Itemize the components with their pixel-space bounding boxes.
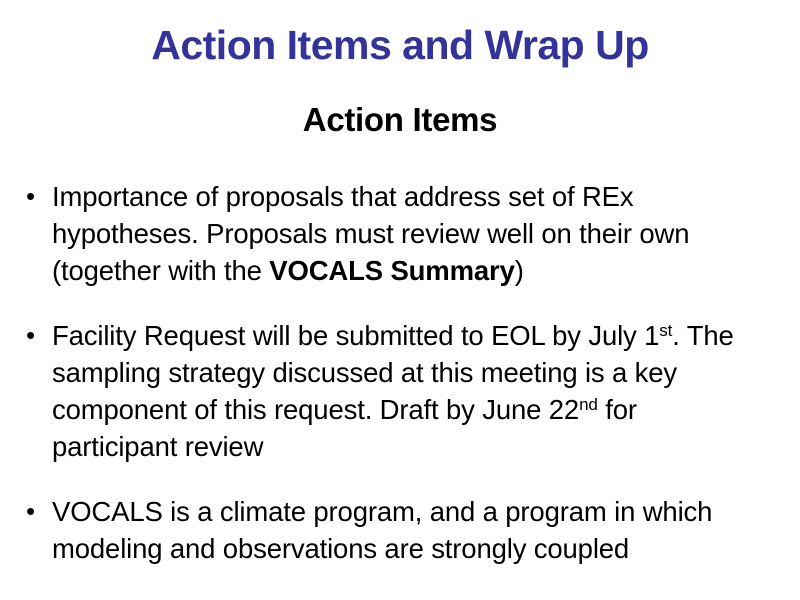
list-item: • Facility Request will be submitted to …: [22, 317, 734, 465]
slide-title: Action Items and Wrap Up: [0, 22, 800, 68]
bullet-point-icon: •: [22, 178, 52, 215]
bullet-point-icon: •: [22, 317, 52, 354]
slide-subtitle: Action Items: [0, 101, 800, 139]
bullet-list: • Importance of proposals that address s…: [22, 178, 734, 567]
bullet-point-icon: •: [22, 493, 52, 530]
bullet-text: Importance of proposals that address set…: [52, 178, 734, 289]
bullet-text: VOCALS is a climate program, and a progr…: [52, 493, 734, 567]
bullet-text: Facility Request will be submitted to EO…: [52, 317, 734, 465]
list-item: • Importance of proposals that address s…: [22, 178, 734, 289]
list-item: • VOCALS is a climate program, and a pro…: [22, 493, 734, 567]
presentation-slide: Action Items and Wrap Up Action Items • …: [0, 0, 800, 600]
